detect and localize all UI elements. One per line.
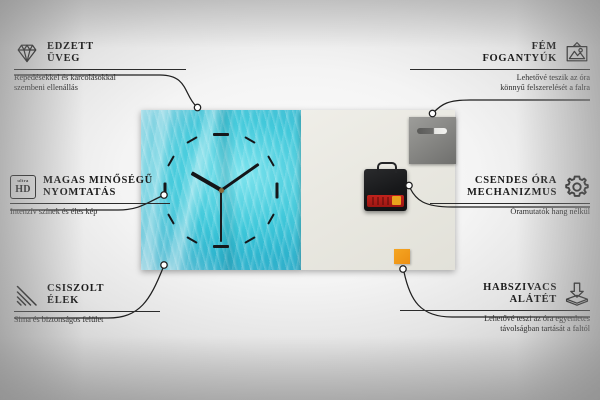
ultra-hd-large-text: HD (15, 185, 31, 195)
callout-foam-pad: HABSZIVACS ALÁTÉT Lehetővé teszi az óra … (400, 281, 590, 334)
feature-title-tempered-glass: EDZETT ÜVEG (47, 41, 94, 66)
arrow-down-onto-pad-icon (564, 281, 590, 307)
foam-pad (394, 249, 410, 264)
desc-line-1: Sima és biztonságos felület (14, 315, 160, 325)
callout-rule (14, 69, 186, 70)
feature-description-metal-handles: Lehetővé teszik az óra könnyű felszerelé… (410, 73, 590, 93)
desc-line-1: Lehetővé teszik az óra (410, 73, 590, 83)
title-line-2: MECHANIZMUS (467, 187, 557, 200)
diamond-icon (14, 40, 40, 66)
clock-tick (276, 182, 279, 198)
metal-hanger-plate (409, 117, 456, 164)
hanger-slot (417, 128, 447, 134)
callout-rule (14, 311, 160, 312)
battery-plus-terminal (392, 196, 401, 205)
ultra-hd-icon: ultra HD (10, 174, 36, 200)
callout-rule (400, 310, 590, 311)
callout-metal-handles: FÉM FOGANTYÚK Lehetővé teszik az óra kön… (410, 40, 590, 93)
second-hand (220, 190, 222, 242)
feature-title-silent-mechanism: CSENDES ÓRA MECHANIZMUS (467, 175, 557, 200)
clock-tick (213, 133, 229, 136)
callout-silent-mechanism: CSENDES ÓRA MECHANIZMUS Óramutatók hang … (430, 174, 590, 217)
callout-tempered-glass: EDZETT ÜVEG Repedésekkel és karcolásokka… (14, 40, 186, 93)
feature-description-foam-pad: Lehetővé teszi az óra egyenletes távolsá… (400, 314, 590, 334)
desc-line-1: Intenzív színek és éles kép (10, 207, 170, 217)
callout-rule (430, 203, 590, 204)
feature-description-silent-mechanism: Óramutatók hang nélkül (430, 207, 590, 217)
desc-line-2: szembeni ellenállás (14, 83, 186, 93)
battery (367, 195, 404, 207)
callout-rule (10, 203, 170, 204)
feature-title-high-quality-print: MAGAS MINŐSÉGŰ NYOMTATÁS (43, 175, 153, 200)
desc-line-2: könnyű felszerelését a falra (410, 83, 590, 93)
title-line-1: EDZETT (47, 41, 94, 54)
clock-tick (213, 245, 229, 248)
wire-metal-handles (434, 100, 590, 112)
title-line-2: FOGANTYÚK (482, 53, 557, 66)
callout-rule (410, 69, 590, 70)
product-photo (141, 110, 455, 270)
title-line-2: NYOMTATÁS (43, 187, 153, 200)
feature-description-high-quality-print: Intenzív színek és éles kép (10, 207, 170, 217)
feature-title-foam-pad: HABSZIVACS ALÁTÉT (483, 282, 557, 307)
title-line-1: FÉM (482, 41, 557, 54)
desc-line-2: távolságban tartását a faltól (400, 324, 590, 334)
feature-title-metal-handles: FÉM FOGANTYÚK (482, 41, 557, 66)
title-line-1: HABSZIVACS (483, 282, 557, 295)
feature-description-tempered-glass: Repedésekkel és karcolásokkal szembeni e… (14, 73, 186, 93)
feature-title-polished-edges: CSISZOLT ÉLEK (47, 283, 104, 308)
title-line-2: ALÁTÉT (483, 294, 557, 307)
desc-line-1: Repedésekkel és karcolásokkal (14, 73, 186, 83)
infographic-canvas: EDZETT ÜVEG Repedésekkel és karcolásokka… (0, 0, 600, 400)
desc-line-1: Lehetővé teszi az óra egyenletes (400, 314, 590, 324)
title-line-1: CSISZOLT (47, 283, 104, 296)
diagonal-lines-icon (14, 282, 40, 308)
title-line-1: MAGAS MINŐSÉGŰ (43, 175, 153, 188)
title-line-1: CSENDES ÓRA (467, 175, 557, 188)
callout-polished-edges: CSISZOLT ÉLEK Sima és biztonságos felüle… (14, 282, 160, 325)
quartz-movement (364, 169, 407, 211)
feature-description-polished-edges: Sima és biztonságos felület (14, 315, 160, 325)
movement-hanger-loop (377, 162, 397, 173)
title-line-2: ÉLEK (47, 295, 104, 308)
clock-pivot (219, 188, 224, 193)
picture-frame-hanger-icon (564, 40, 590, 66)
desc-line-1: Óramutatók hang nélkül (430, 207, 590, 217)
callout-high-quality-print: ultra HD MAGAS MINŐSÉGŰ NYOMTATÁS Intenz… (10, 174, 170, 217)
gear-icon (564, 174, 590, 200)
title-line-2: ÜVEG (47, 53, 94, 66)
